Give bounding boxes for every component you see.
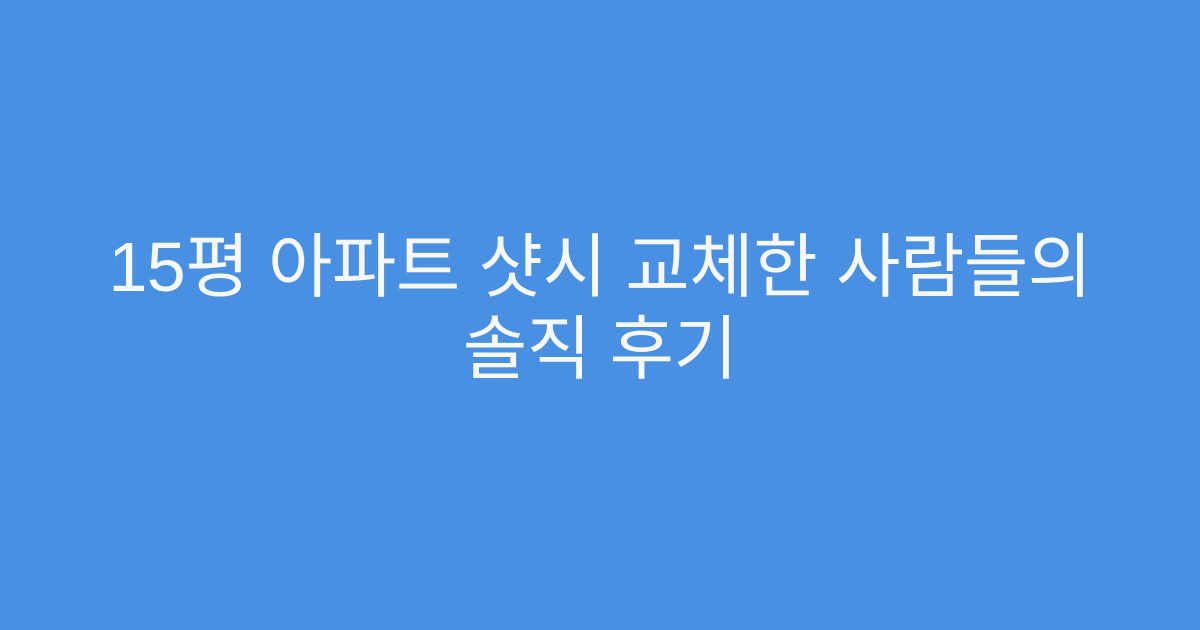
page-title: 15평 아파트 샷시 교체한 사람들의 솔직 후기 (100, 226, 1100, 390)
title-block: 15평 아파트 샷시 교체한 사람들의 솔직 후기 (0, 226, 1200, 390)
social-share-card: 15평 아파트 샷시 교체한 사람들의 솔직 후기 (0, 0, 1200, 630)
